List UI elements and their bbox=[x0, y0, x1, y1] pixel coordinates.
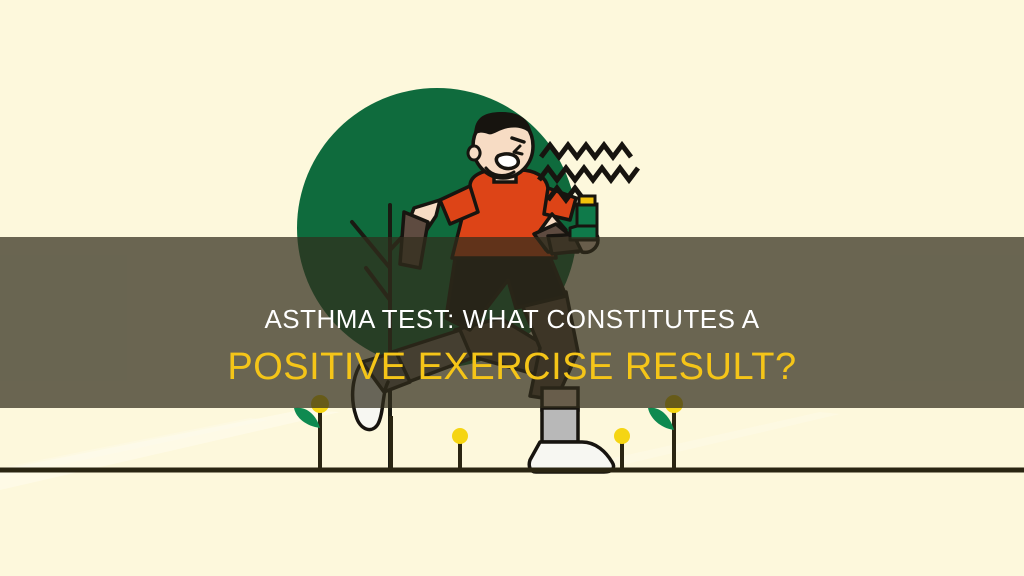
screenshot-canvas: ASTHMA TEST: WHAT CONSTITUTES A POSITIVE… bbox=[0, 0, 1024, 576]
title-line-primary: ASTHMA TEST: WHAT CONSTITUTES A bbox=[0, 306, 1024, 332]
title-line-secondary: POSITIVE EXERCISE RESULT? bbox=[0, 348, 1024, 386]
title-overlay-band: ASTHMA TEST: WHAT CONSTITUTES A POSITIVE… bbox=[0, 237, 1024, 408]
